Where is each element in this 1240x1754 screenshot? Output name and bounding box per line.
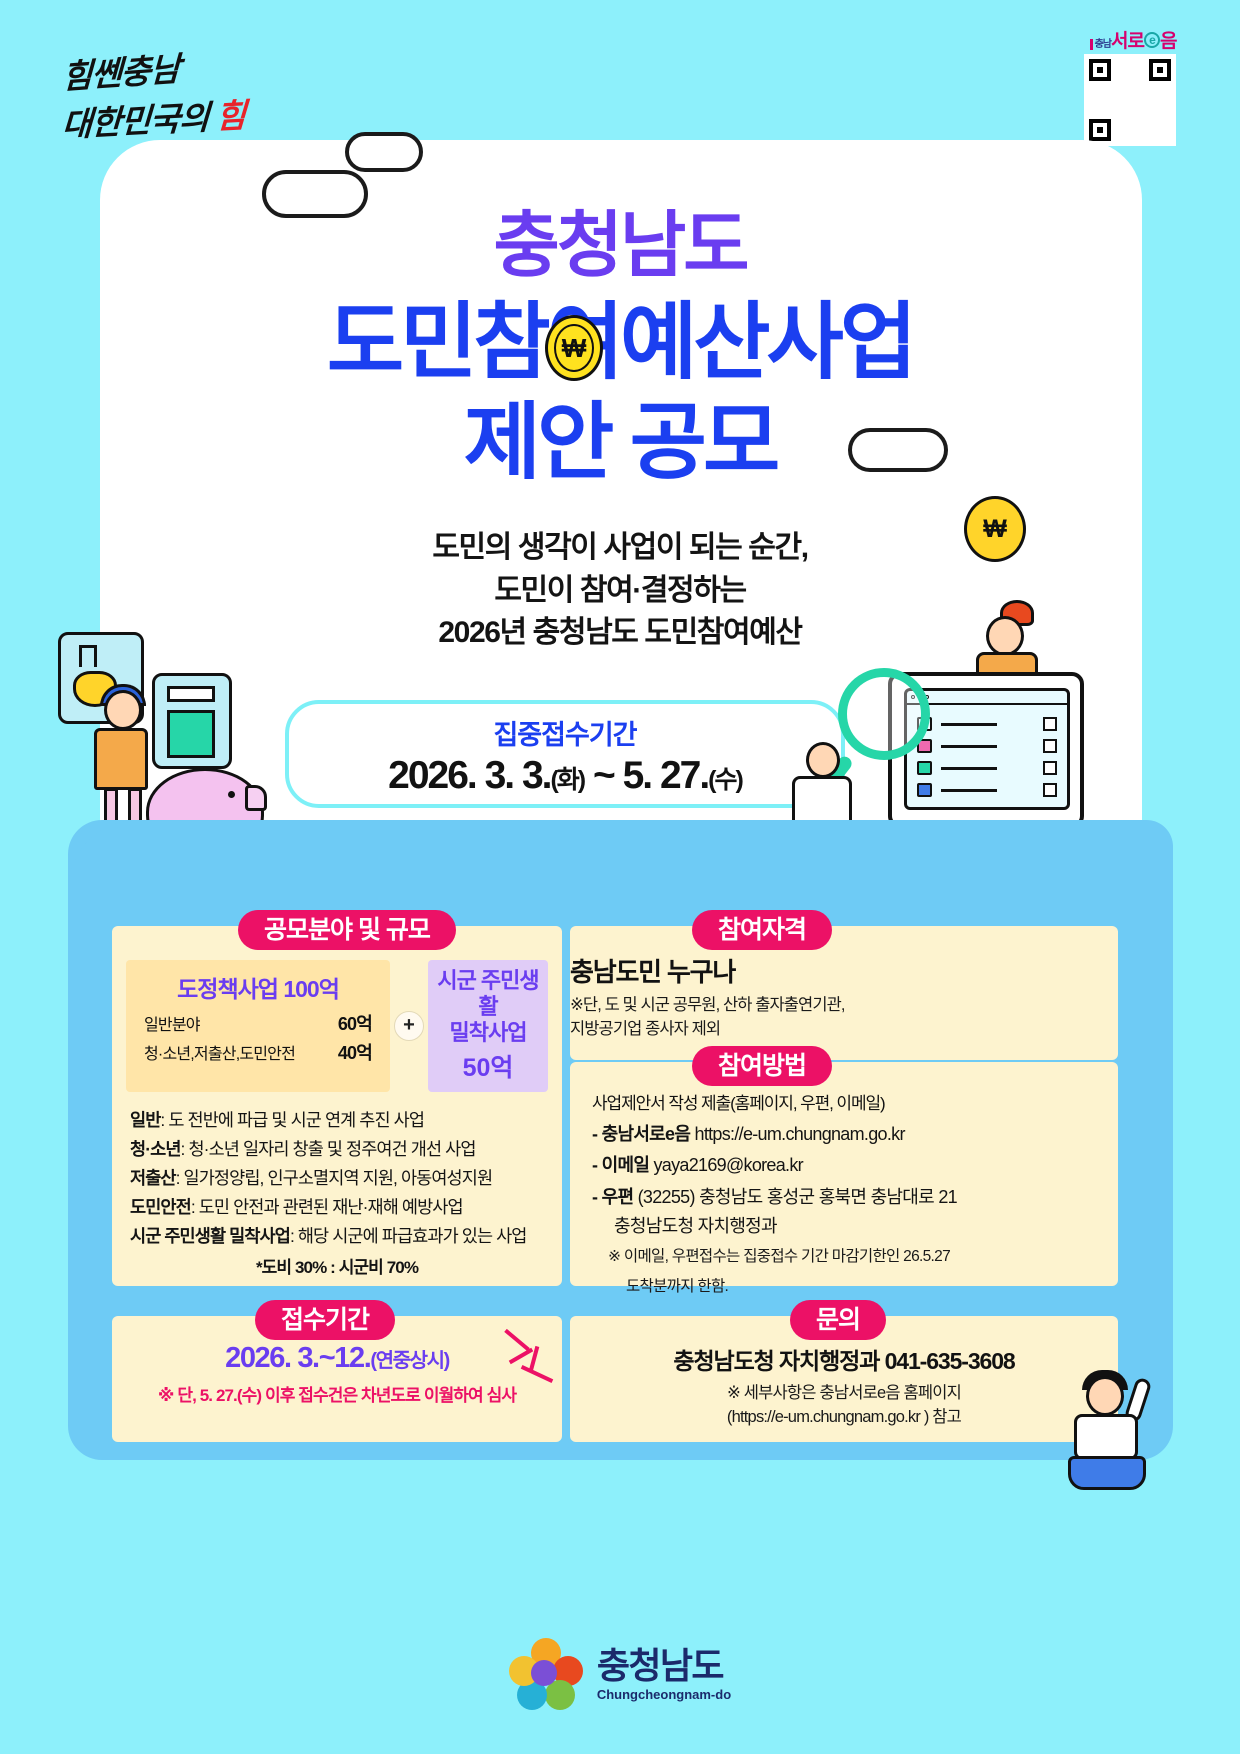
budget-row-general-label: 일반분야 [144,1011,200,1035]
intensive-period-banner: 집중접수기간 2026. 3. 3.(화) ~ 5. 27.(수) [285,700,845,808]
badge-eligibility: 참여자격 [692,910,832,950]
hospital-icon [917,783,932,797]
budget-row: 도정책사업 100억 일반분야 60억 청·소년,저출산,도민안전 40억 + … [126,960,548,1092]
period-value-sub: (연중상시) [370,1350,449,1372]
scope-detail-item: 저출산: 일가정양립, 인구소멸지역 지원, 아동여성지원 [130,1164,544,1193]
person-left-head [104,690,142,730]
scope-desc-youth: : 청·소년 일자리 창출 및 정주여건 개선 사업 [181,1139,476,1159]
budget-row-youth-amount: 40억 [338,1039,372,1065]
chungnam-slogan-logo: 힘쎈충남 대한민국의 힘 [62,42,302,137]
method-value-mail: (32255) 충청남도 홍성군 홍북면 충남대로 21 [633,1187,957,1207]
method-value-email[interactable]: yaya2169@korea.kr [649,1155,803,1175]
budget-city-block: 시군 주민생활 밀착사업 50억 [428,960,548,1092]
scope-desc-local: : 해당 시군에 파급효과가 있는 사업 [290,1226,527,1246]
badge-period: 접수기간 [255,1300,395,1340]
qr-code-pattern [1089,59,1171,141]
checkbox-icon-3 [1043,761,1057,775]
footer-org-name: 충청남도 [597,1648,731,1684]
scope-detail-item: 일반: 도 전반에 파급 및 시군 연계 추진 사업 [130,1106,544,1135]
method-heading-bold: 사업제안서 작성 제출 [592,1094,730,1113]
slogan-accent-word: 힘 [215,99,246,137]
card-scope: 도정책사업 100억 일반분야 60억 청·소년,저출산,도민안전 40억 + … [112,926,562,1286]
card-method: 사업제안서 작성 제출(홈페이지, 우편, 이메일) - 충남서로e음 http… [570,1062,1118,1286]
coin-icon-title: ₩ [545,315,603,381]
method-footnote-line-1: ※ 이메일, 우편접수는 집중접수 기간 마감기한인 26.5.27 [608,1246,1118,1268]
footer-text-block: 충청남도 Chungcheongnam-do [597,1648,731,1702]
seoro-word-post: 음 [1160,31,1176,52]
scope-term-local: 시군 주민생활 밀착사업 [130,1226,290,1246]
qr-finder-top-left [1089,59,1111,81]
list-line-1 [941,723,997,726]
scope-detail-list: 일반: 도 전반에 파급 및 시군 연계 추진 사업 청·소년: 청·소년 일자… [130,1106,544,1278]
method-footnote-line-2: 도착분까지 한함. [626,1276,1118,1298]
checkbox-icon-4 [1043,783,1057,797]
scope-term-birthrate: 저출산 [130,1168,176,1188]
hero-subtitle-line-1: 도민의 생각이 사업이 되는 순간, [0,527,1240,570]
hero-title-line-2: 도민참여예산사업 [0,300,1240,384]
piggy-eye [228,791,235,798]
magnifier-icon [838,668,930,760]
person-center-head [806,742,840,778]
contact-note-line-1: ※ 세부사항은 충남서로e음 홈페이지 [570,1382,1118,1406]
piggy-ear [245,785,267,811]
poster-root: 힘쎈충남 대한민국의 힘 충남서로e음 충청남도 도민참여예산사업 ₩ 제안 공… [0,0,1240,1754]
checkbox-icon-2 [1043,739,1057,753]
hero-subtitle-line-2: 도민이 참여·결정하는 [0,570,1240,613]
date-start: 2026. 3. 3. [388,754,550,797]
budget-province-block: 도정책사업 100억 일반분야 60억 청·소년,저출산,도민안전 40억 [126,960,390,1092]
kid-pants [1068,1456,1146,1490]
budget-row-general-amount: 60억 [338,1010,372,1036]
budget-city-title-line-2: 밀착사업 [432,1020,544,1046]
date-end: 5. 27. [623,754,709,797]
contact-note: ※ 세부사항은 충남서로e음 홈페이지 (https://e-um.chungn… [570,1382,1118,1430]
intensive-period-label: 집중접수기간 [289,713,841,752]
seoro-eum-block: 충남서로e음 [1084,32,1182,146]
date-separator: ~ [584,754,622,797]
seoro-word-pre: 서로 [1111,31,1144,52]
eligibility-main: 충남도민 누구나 [570,952,1118,989]
hero-title-line-3: 제안 공모 [0,400,1240,484]
seoro-e-icon: e [1144,32,1160,48]
date-start-day: (화) [550,766,584,794]
person-left-body [94,728,148,790]
kid-body [1074,1414,1138,1460]
date-end-day: (수) [708,766,742,794]
hero-subtitle-line-3: 2026년 충청남도 도민참여예산 [0,612,1240,655]
method-value-website[interactable]: https://e-um.chungnam.go.kr [690,1124,905,1144]
list-line-3 [941,767,997,770]
seoro-prefix: 충남 [1090,39,1111,50]
coin-large-illustration: ₩ [964,496,1026,562]
badge-contact: 문의 [790,1300,886,1340]
scribble-decoration [498,1332,568,1408]
badge-scope: 공모분야 및 규모 [238,910,456,950]
method-row-mail: - 우편 (32255) 충청남도 홍성군 홍북면 충남대로 21 [592,1185,1118,1209]
qr-code[interactable] [1084,54,1176,146]
slogan-line-2-text: 대한민국의 [61,100,217,144]
method-heading-light: (홈페이지, 우편, 이메일) [730,1094,884,1113]
qr-finder-bottom-left [1089,119,1111,141]
scope-detail-item: 시군 주민생활 밀착사업: 해당 시군에 파급효과가 있는 사업 [130,1222,544,1251]
budget-province-title: 도정책사업 100억 [134,970,382,1004]
list-line-4 [941,789,997,792]
eligibility-note: ※단, 도 및 시군 공무원, 산하 출자출연기관, 지방공기업 종사자 제외 [570,994,1118,1042]
scope-term-youth: 청·소년 [130,1139,181,1159]
period-value-main: 2026. 3.~12. [225,1342,370,1374]
panel-wave-top [68,820,1173,890]
scope-desc-safety: : 도민 안전과 관련된 재난·재해 예방사업 [191,1197,463,1217]
scope-term-general: 일반 [130,1110,160,1130]
method-term-website: - 충남서로e음 [592,1124,690,1144]
eligibility-note-line-1: ※단, 도 및 시군 공무원, 산하 출자출연기관, [570,994,1118,1018]
browser-chrome-bar [907,691,1067,705]
scope-term-safety: 도민안전 [130,1197,191,1217]
method-mail-department: 충청남도청 자치행정과 [614,1212,1118,1238]
seoro-eum-wordmark: 충남서로e음 [1084,32,1182,51]
intensive-period-value: 2026. 3. 3.(화) ~ 5. 27.(수) [289,754,841,798]
budget-city-amount: 50억 [463,1048,514,1084]
scope-desc-birthrate: : 일가정양립, 인구소멸지역 지원, 아동여성지원 [176,1168,493,1188]
list-line-2 [941,745,997,748]
period-value: 2026. 3.~12.(연중상시) [112,1342,562,1375]
badge-method: 참여방법 [692,1046,832,1086]
hero-subtitle: 도민의 생각이 사업이 되는 순간, 도민이 참여·결정하는 2026년 충청남… [0,527,1240,655]
method-term-mail: - 우편 [592,1187,633,1207]
method-row-website: - 충남서로e음 https://e-um.chungnam.go.kr [592,1122,1118,1146]
person-right-head [986,616,1024,656]
hero-title-line-1: 충청남도 [0,210,1240,282]
budget-plus-wrap: + [390,960,428,1092]
budget-row-youth: 청·소년,저출산,도민안전 40억 [134,1039,382,1065]
kid-head [1086,1376,1124,1416]
checkbox-icon-1 [1043,717,1057,731]
contact-main: 충청남도청 자치행정과 041-635-3608 [570,1342,1118,1376]
method-heading: 사업제안서 작성 제출(홈페이지, 우편, 이메일) [592,1088,1118,1115]
cloud-decoration-1 [345,132,423,172]
eligibility-note-line-2: 지방공기업 종사자 제외 [570,1018,1118,1042]
kid-illustration [1042,1368,1162,1498]
period-note: ※ 단, 5. 27.(수) 이후 접수건은 차년도로 이월하여 심사 [112,1381,562,1406]
budget-row-general: 일반분야 60억 [134,1010,382,1036]
scope-detail-item: 도민안전: 도민 안전과 관련된 재난·재해 예방사업 [130,1193,544,1222]
budget-row-youth-label: 청·소년,저출산,도민안전 [144,1040,295,1064]
contact-note-line-2: (https://e-um.chungnam.go.kr ) 참고 [570,1406,1118,1430]
method-term-email: - 이메일 [592,1155,649,1175]
method-row-email: - 이메일 yaya2169@korea.kr [592,1153,1118,1177]
calculator-illustration [152,673,232,769]
scope-detail-item: 청·소년: 청·소년 일자리 창출 및 정주여건 개선 사업 [130,1135,544,1164]
qr-finder-top-right [1149,59,1171,81]
budget-city-title-line-1: 시군 주민생활 [432,968,544,1020]
footer-logo: 충청남도 Chungcheongnam-do [0,1638,1240,1712]
scope-desc-general: : 도 전반에 파급 및 시군 연계 추진 사업 [160,1110,424,1130]
budget-city-title: 시군 주민생활 밀착사업 [432,968,544,1046]
scope-footnote: *도비 30% : 시군비 70% [130,1253,544,1278]
footer-org-name-en: Chungcheongnam-do [597,1687,731,1702]
card-eligibility: 충남도민 누구나 ※단, 도 및 시군 공무원, 산하 출자출연기관, 지방공기… [570,926,1118,1060]
chungnam-flower-icon [509,1638,583,1712]
plus-icon: + [394,1011,424,1041]
car-icon [917,761,932,775]
petal-center [531,1660,557,1686]
